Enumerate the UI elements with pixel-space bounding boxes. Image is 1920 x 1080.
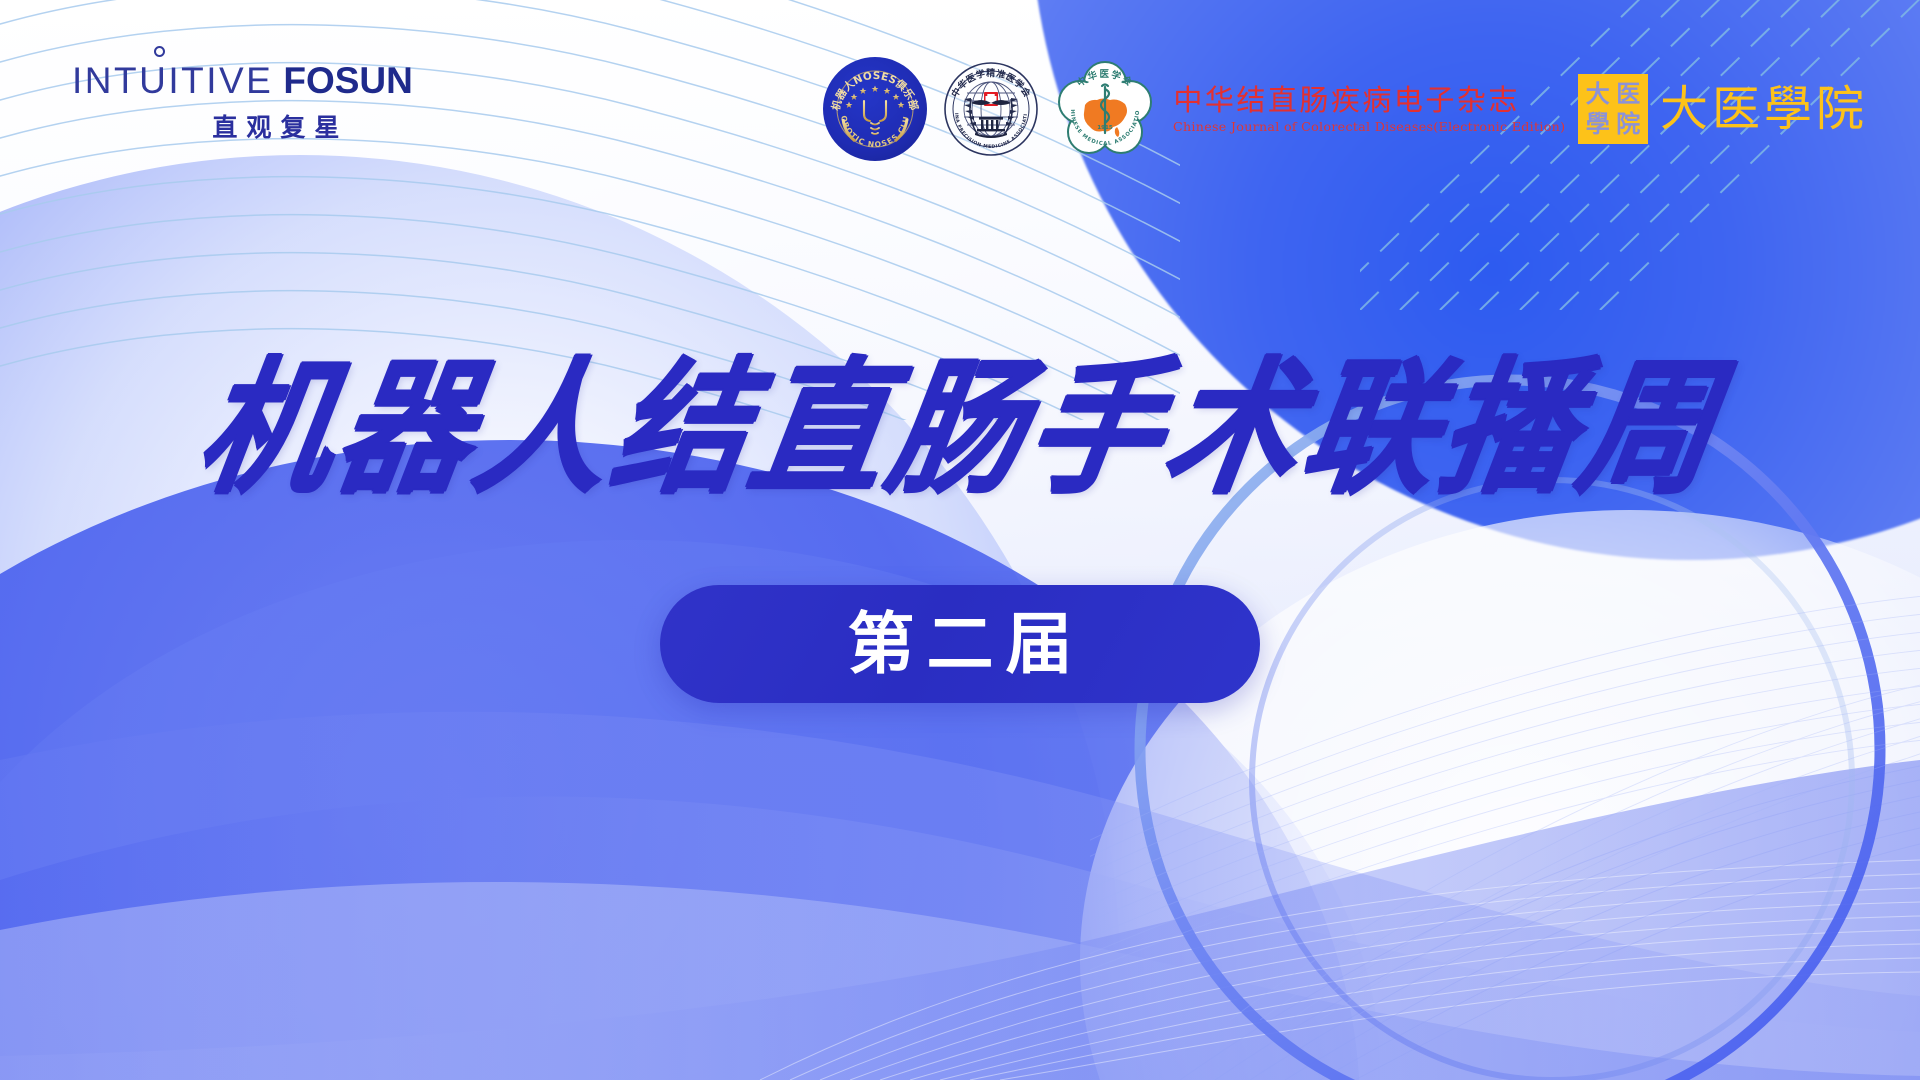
brand-name-chinese: 直观复星 [72,108,413,144]
seal-char-4: 院 [1613,110,1643,140]
chinese-medical-association-emblem-icon: 中华医学会 CHINESE MEDICAL ASSOCIATION 1915 [1055,59,1155,159]
dayi-academy-seal-icon: 大 医 學 院 [1578,74,1648,144]
main-title-area: 机器人结直肠手术联播周 [0,360,1920,500]
partner-logo-dayi-academy: 大 医 學 院 大医學院 [1578,74,1868,144]
seal-char-1: 大 [1583,79,1613,109]
brand-name-english: INTUITIVE FOSUN [72,62,413,99]
journal-name-chinese: 中华结直肠疾病电子杂志 [1173,85,1558,115]
robotic-noses-club-emblem-icon: 机器人NOSES俱乐部 ROBOTIC NOSES CLUB [823,57,927,161]
dayi-academy-wordmark: 大医學院 [1660,85,1868,133]
edition-badge-label: 第二届 [836,611,1085,678]
seal-char-2: 医 [1613,79,1643,109]
partner-logo-strip: 机器人NOSES俱乐部 ROBOTIC NOSES CLUB [823,56,1868,162]
brand-intuitive-text: INTUITIVE [72,62,273,99]
partner-logo-chinese-medical-association: 中华医学会 CHINESE MEDICAL ASSOCIATION 1915 [1055,59,1155,159]
journal-name-english: Chinese Journal of Colorectal Diseases(E… [1173,120,1565,133]
poster-canvas: INTUITIVE FOSUN 直观复星 [0,0,1920,1080]
partner-logo-chinese-journal-colorectal-diseases: 中华结直肠疾病电子杂志 Chinese Journal of Colorecta… [1173,85,1558,133]
intuitive-fosun-logo: INTUITIVE FOSUN 直观复星 [72,62,413,144]
precision-medicine-emblem-icon: 中华医学精准医学会 CHINA PRECISION MEDICINE ASSOC… [941,59,1041,159]
brand-circle-dot-icon [154,46,165,57]
edition-badge: 第二届 [660,585,1260,703]
page-title: 机器人结直肠手术联播周 [189,353,1731,507]
seal-char-3: 學 [1583,110,1613,140]
poster-header: INTUITIVE FOSUN 直观复星 [0,0,1920,200]
partner-logo-robotic-noses-club: 机器人NOSES俱乐部 ROBOTIC NOSES CLUB [823,57,927,161]
partner-logo-precision-medicine-association: 中华医学精准医学会 CHINA PRECISION MEDICINE ASSOC… [941,59,1041,159]
svg-text:1915: 1915 [1098,125,1114,131]
brand-fosun-text: FOSUN [283,62,413,99]
edition-badge-area: 第二届 [0,585,1920,703]
